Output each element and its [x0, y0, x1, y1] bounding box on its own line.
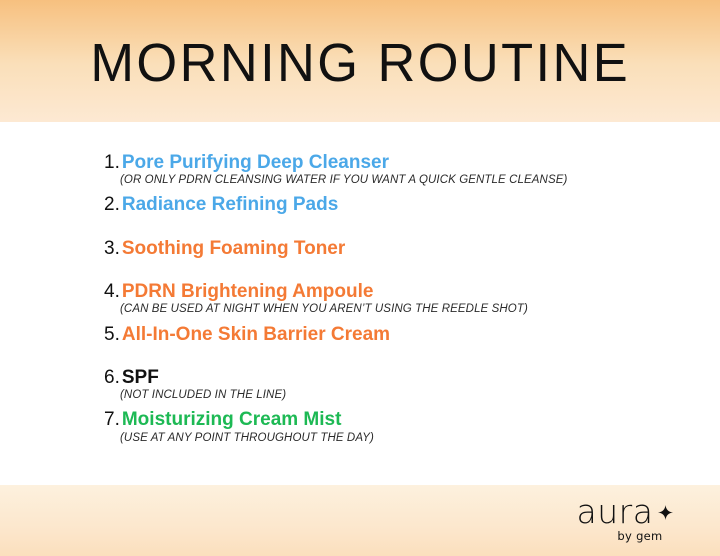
routine-item: 7.Moisturizing Cream Mist(USE AT ANY POI… — [104, 409, 680, 444]
brand-logo: aura by gem — [560, 495, 690, 543]
slide-root: MORNING ROUTINE 1.Pore Purifying Deep Cl… — [0, 0, 720, 556]
routine-item-note: (CAN BE USED AT NIGHT WHEN YOU AREN’T US… — [120, 303, 680, 316]
routine-item-line: 6.SPF — [104, 367, 680, 388]
routine-item-title: All-In-One Skin Barrier Cream — [122, 324, 390, 345]
routine-item-line: 2.Radiance Refining Pads — [104, 194, 680, 215]
header-band: MORNING ROUTINE — [0, 0, 720, 122]
routine-item: 2.Radiance Refining Pads — [104, 194, 680, 215]
routine-item-number: 2. — [104, 194, 120, 215]
routine-item-title: Radiance Refining Pads — [122, 194, 338, 215]
routine-item-note: (USE AT ANY POINT THROUGHOUT THE DAY) — [120, 432, 680, 445]
routine-item-number: 7. — [104, 409, 120, 430]
routine-item: 4.PDRN Brightening Ampoule(CAN BE USED A… — [104, 281, 680, 316]
routine-item-title: Pore Purifying Deep Cleanser — [122, 152, 389, 173]
routine-item-note: (NOT INCLUDED IN THE LINE) — [120, 389, 680, 402]
routine-item-number: 1. — [104, 152, 120, 173]
routine-item-title: SPF — [122, 367, 159, 388]
routine-item: 6.SPF(NOT INCLUDED IN THE LINE) — [104, 367, 680, 402]
routine-item-title: Soothing Foaming Toner — [122, 238, 345, 259]
logo-tagline: by gem — [590, 529, 690, 543]
routine-item: 5.All-In-One Skin Barrier Cream — [104, 324, 680, 345]
routine-item-number: 5. — [104, 324, 120, 345]
routine-item-line: 1.Pore Purifying Deep Cleanser — [104, 152, 680, 173]
page-title: MORNING ROUTINE — [90, 36, 630, 90]
sparkle-icon — [658, 505, 673, 520]
body-area: 1.Pore Purifying Deep Cleanser(OR ONLY P… — [0, 122, 720, 485]
routine-list: 1.Pore Purifying Deep Cleanser(OR ONLY P… — [104, 152, 680, 445]
routine-item-line: 7.Moisturizing Cream Mist — [104, 409, 680, 430]
routine-item-note: (OR ONLY PDRN CLEANSING WATER IF YOU WAN… — [120, 174, 680, 187]
routine-item-number: 4. — [104, 281, 120, 302]
logo-wordmark: aura — [577, 495, 654, 528]
routine-item-line: 5.All-In-One Skin Barrier Cream — [104, 324, 680, 345]
routine-item: 3.Soothing Foaming Toner — [104, 238, 680, 259]
routine-item-title: Moisturizing Cream Mist — [122, 409, 342, 430]
footer-band: aura by gem — [0, 485, 720, 556]
logo-wordmark-row: aura — [560, 495, 690, 528]
routine-item-number: 6. — [104, 367, 120, 388]
routine-item: 1.Pore Purifying Deep Cleanser(OR ONLY P… — [104, 152, 680, 187]
routine-item-line: 3.Soothing Foaming Toner — [104, 238, 680, 259]
routine-item-title: PDRN Brightening Ampoule — [122, 281, 374, 302]
routine-item-number: 3. — [104, 238, 120, 259]
routine-item-line: 4.PDRN Brightening Ampoule — [104, 281, 680, 302]
